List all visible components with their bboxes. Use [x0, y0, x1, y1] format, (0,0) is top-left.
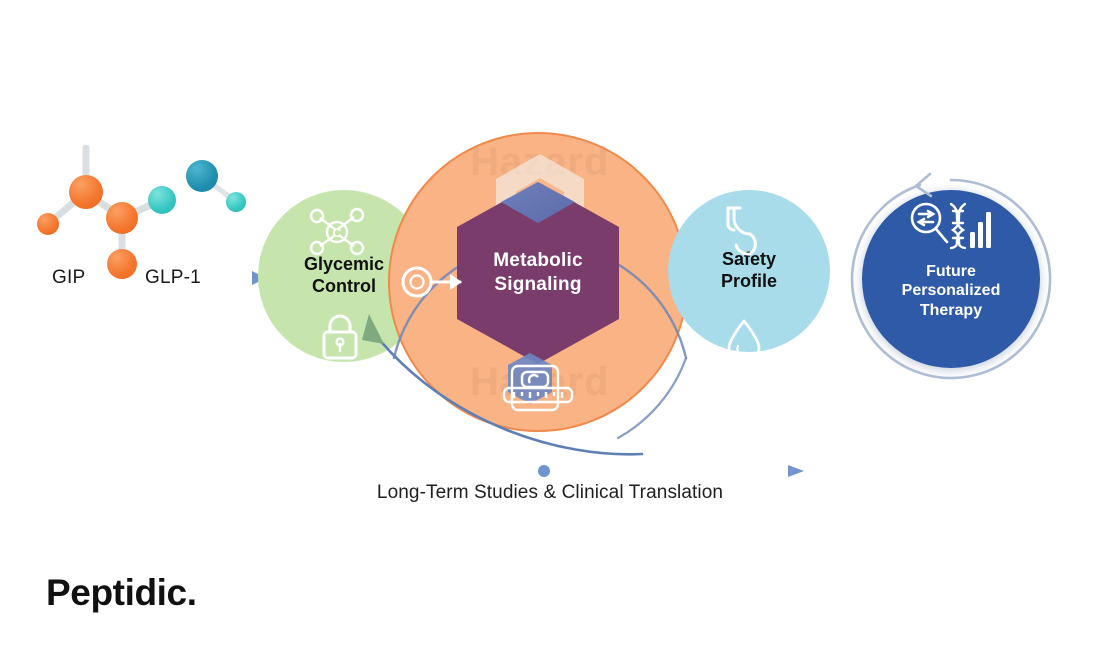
key-icon	[400, 262, 466, 302]
timeline-caption: Long-Term Studies & Clinical Translation	[0, 482, 1100, 504]
atom-orange-large-left	[69, 175, 103, 209]
brand-logo: Peptidic.	[46, 572, 197, 614]
atom-teal-large	[186, 160, 218, 192]
label-gip: GIP	[52, 267, 85, 289]
infographic-canvas: GIP GLP-1 Glycemic Control	[0, 0, 1100, 648]
dna-research-icon	[906, 198, 992, 254]
atom-cyan-mid	[148, 186, 176, 214]
weight-scale-icon	[500, 362, 576, 418]
timeline-midpoint-dot	[538, 465, 550, 477]
node-future-title: Future Personalized Therapy	[902, 262, 1001, 321]
molecule-illustration: GIP GLP-1	[40, 160, 240, 300]
molecule-network-icon: C	[306, 206, 368, 258]
atom-cyan-small-right	[226, 192, 246, 212]
water-drop-icon	[724, 318, 764, 366]
feedback-arrow-icon	[330, 296, 660, 466]
svg-text:C: C	[333, 226, 342, 240]
node-glycemic-title: Glycemic Control	[304, 254, 384, 298]
stomach-icon	[718, 204, 766, 256]
atom-orange-bottom	[107, 249, 137, 279]
atom-orange-small-left	[37, 213, 59, 235]
atom-orange-center	[106, 202, 138, 234]
label-glp1: GLP-1	[145, 267, 201, 289]
